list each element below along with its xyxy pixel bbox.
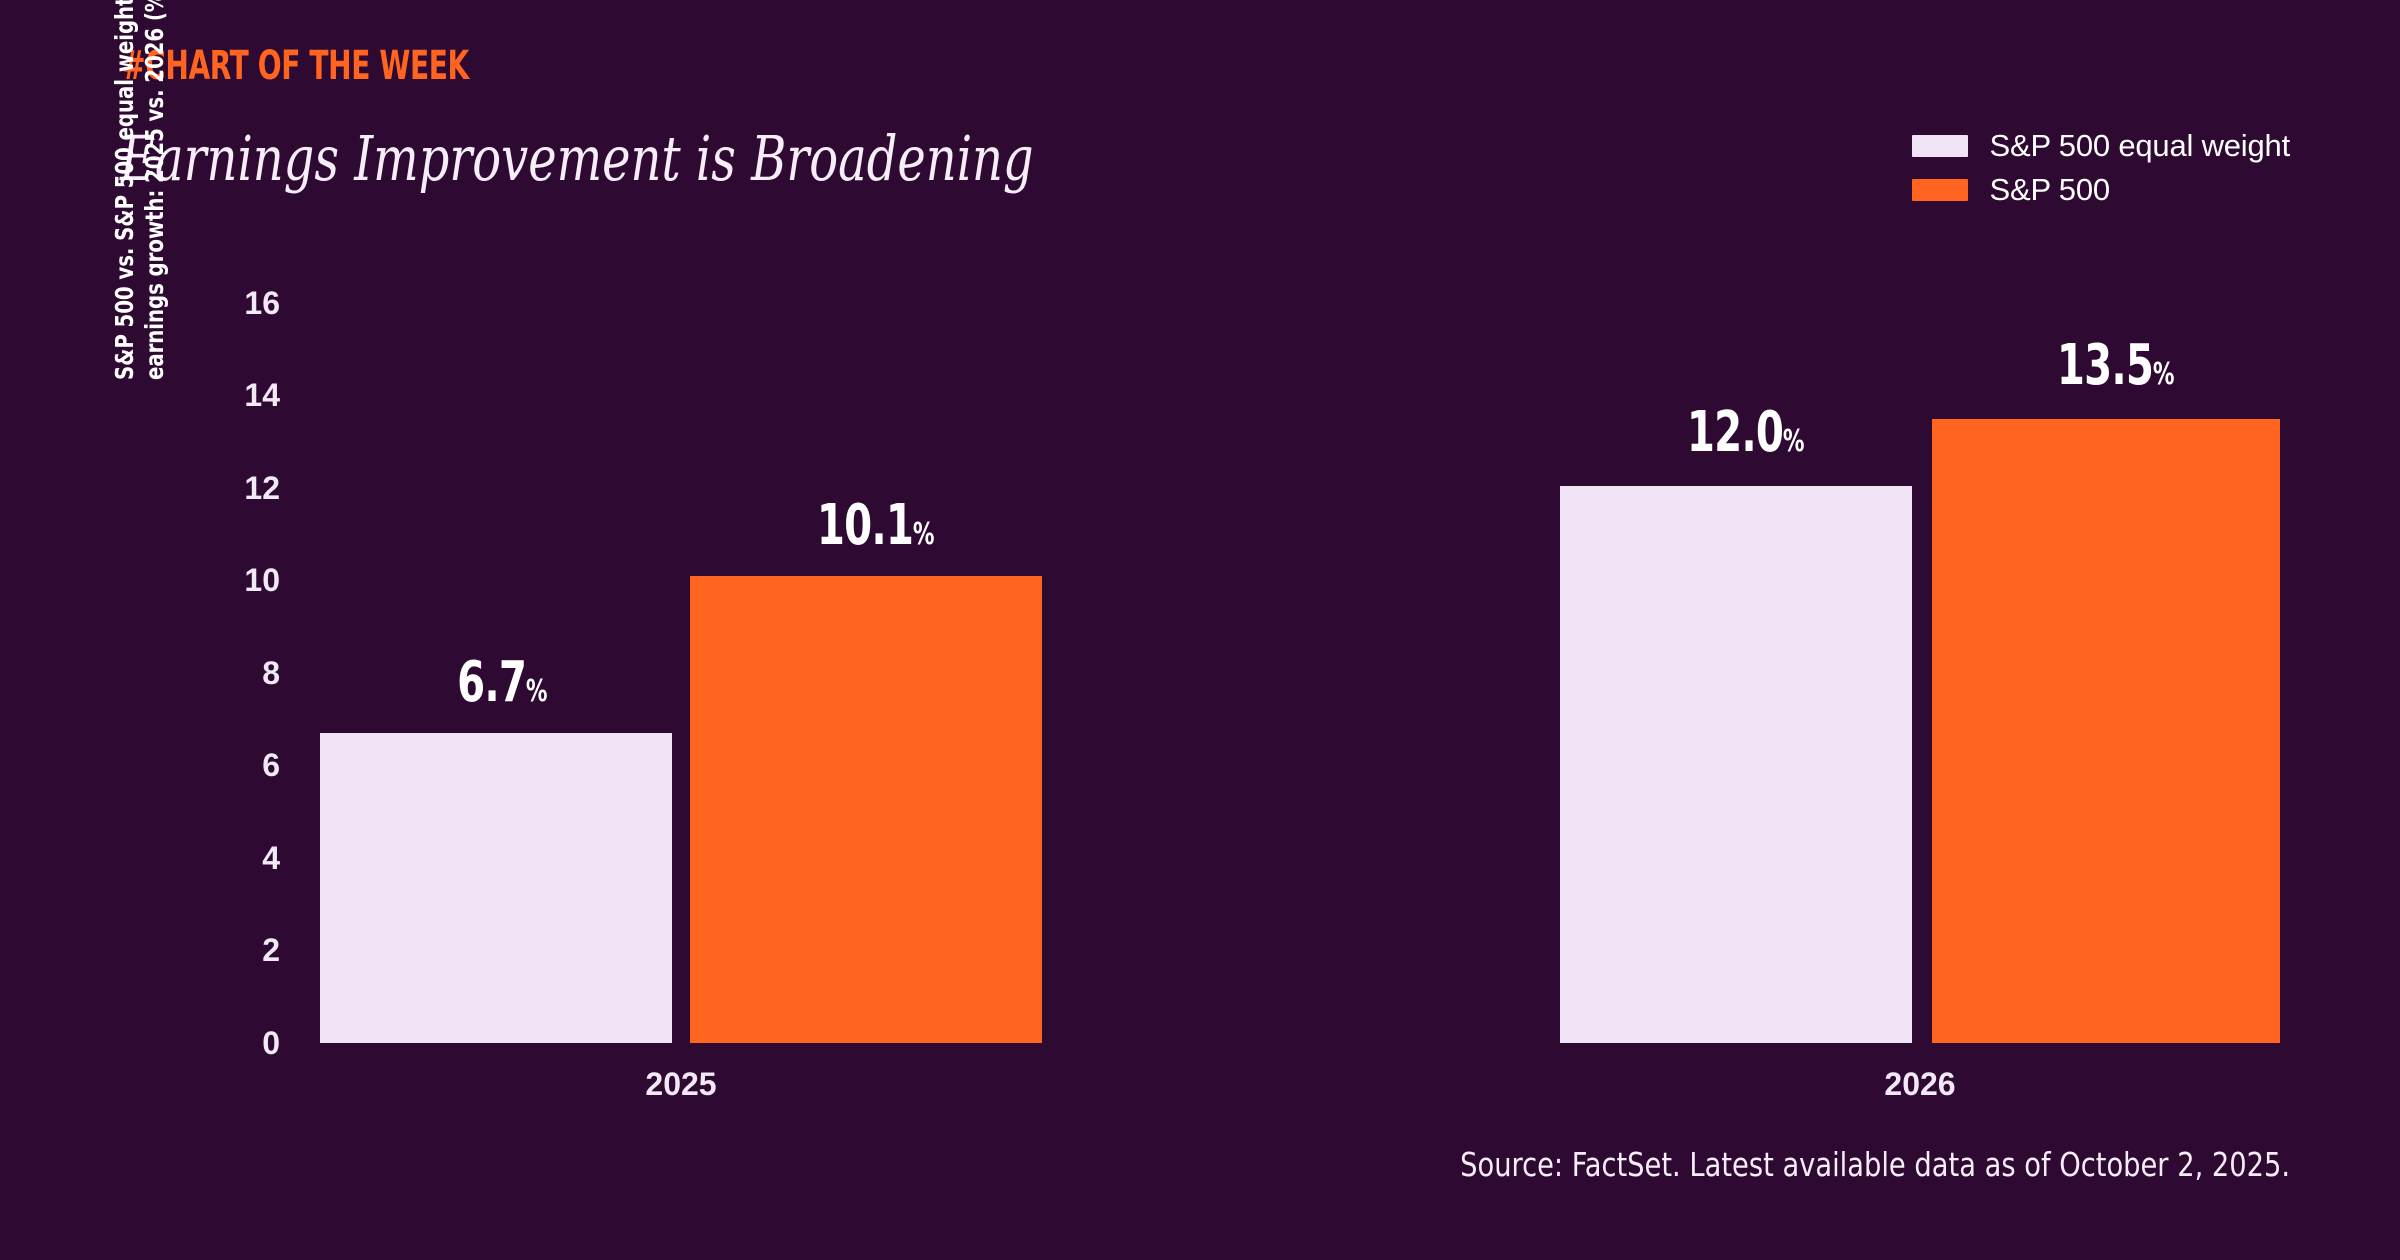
source-note: Source: FactSet. Latest available data a… xyxy=(1460,1148,2290,1181)
x-tick-2026: 2026 xyxy=(1884,1068,1955,1100)
y-tick-10: 10 xyxy=(180,564,280,596)
bar-label-2026-sp500: 13.5% xyxy=(2033,338,2179,394)
y-tick-2: 2 xyxy=(180,934,280,966)
bar-2025-sp500[interactable] xyxy=(690,576,1042,1043)
y-axis-title: S&P 500 vs. S&P 500 equal weighted index… xyxy=(100,0,180,380)
y-tick-14: 14 xyxy=(180,379,280,411)
y-tick-0: 0 xyxy=(180,1027,280,1059)
y-tick-6: 6 xyxy=(180,749,280,781)
y-tick-4: 4 xyxy=(180,842,280,874)
bar-label-2025-equal-weight-value: 6.7 xyxy=(457,655,526,711)
y-axis-ticks: 16 14 12 10 8 6 4 2 0 xyxy=(180,0,280,1260)
plot-area: S&P 500 vs. S&P 500 equal weighted index… xyxy=(0,0,2400,1260)
y-axis-title-line-2: earnings growth: 2025 vs. 2026 (%) xyxy=(140,0,171,380)
x-tick-2025: 2025 xyxy=(645,1068,716,1100)
percent-sign-icon: % xyxy=(1783,427,1804,457)
bar-2025-equal-weight[interactable] xyxy=(320,733,672,1043)
percent-sign-icon: % xyxy=(913,520,934,550)
bar-label-2026-sp500-value: 13.5 xyxy=(2057,338,2153,394)
y-tick-8: 8 xyxy=(180,657,280,689)
y-axis-title-line-1: S&P 500 vs. S&P 500 equal weighted index xyxy=(110,0,141,380)
bar-label-2025-equal-weight: 6.7% xyxy=(440,655,552,711)
percent-sign-icon: % xyxy=(526,677,547,707)
y-tick-12: 12 xyxy=(180,472,280,504)
chart-canvas: #CHART OF THE WEEK Earnings Improvement … xyxy=(0,0,2400,1260)
bar-2026-equal-weight[interactable] xyxy=(1560,486,1912,1043)
bar-label-2025-sp500-value: 10.1 xyxy=(817,498,913,554)
percent-sign-icon: % xyxy=(2153,360,2174,390)
bar-2026-sp500[interactable] xyxy=(1932,419,2280,1043)
bar-label-2026-equal-weight-value: 12.0 xyxy=(1687,405,1783,461)
y-tick-16: 16 xyxy=(180,287,280,319)
bar-label-2025-sp500: 10.1% xyxy=(793,498,939,554)
bar-label-2026-equal-weight: 12.0% xyxy=(1663,405,1809,461)
